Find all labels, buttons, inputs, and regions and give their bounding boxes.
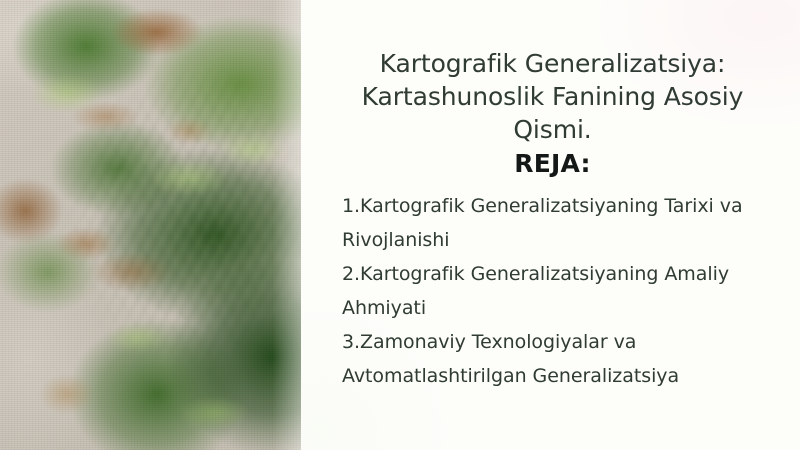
list-item: 3.Zamonaviy Texnologiyalar va Avtomatlas… <box>342 325 784 393</box>
presentation-slide: Kartografik Generalizatsiya: Kartashunos… <box>0 0 800 450</box>
relief-terrain-image <box>0 0 301 450</box>
agenda-heading: REJA: <box>327 147 778 181</box>
list-item: 2.Kartografik Generalizatsiyaning Amaliy… <box>342 257 784 325</box>
slide-title: Kartografik Generalizatsiya: Kartashunos… <box>327 47 778 181</box>
title-line-3: Qismi. <box>327 113 778 146</box>
agenda-list: 1.Kartografik Generalizatsiyaning Tarixi… <box>342 189 784 393</box>
slide-text-panel: Kartografik Generalizatsiya: Kartashunos… <box>301 0 800 450</box>
list-item: 1.Kartografik Generalizatsiyaning Tarixi… <box>342 189 784 257</box>
terrain-edge-fade <box>0 0 301 450</box>
title-line-1: Kartografik Generalizatsiya: <box>327 47 778 80</box>
title-line-2: Kartashunoslik Fanining Asosiy <box>327 80 778 113</box>
